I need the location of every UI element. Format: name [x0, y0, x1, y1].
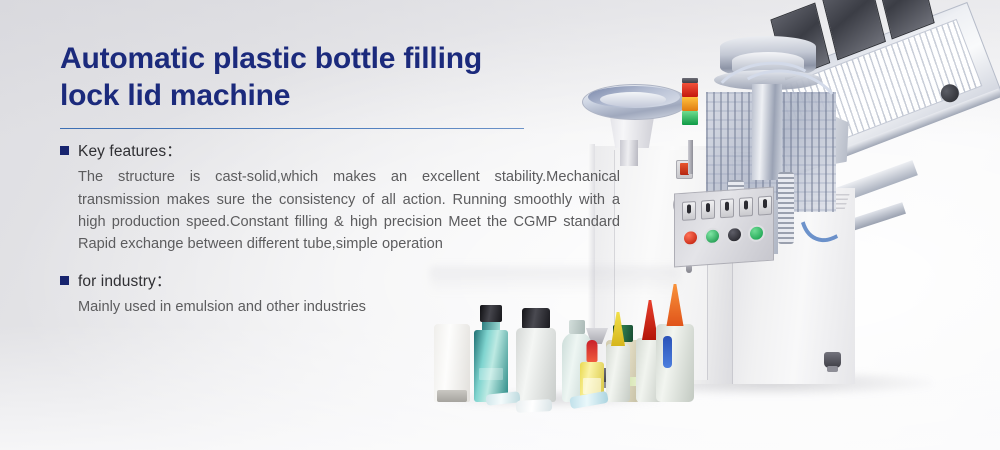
selector-switch-row — [682, 196, 772, 221]
flat-sachet-tube — [516, 399, 553, 413]
stack-light-tower — [682, 78, 698, 142]
run-push-button[interactable] — [748, 224, 765, 242]
dropper-cap — [587, 340, 598, 362]
section-body-key-features: The structure is cast-solid,which makes … — [78, 166, 620, 255]
feature-section-key-features: Key features： The structure is cast-soli… — [60, 142, 620, 255]
selector-switch[interactable] — [701, 200, 715, 220]
start-push-button[interactable] — [704, 227, 721, 245]
stop-push-button[interactable] — [682, 229, 699, 247]
spring-guard — [778, 172, 794, 244]
text-column: Automatic plastic bottle filling lock li… — [60, 40, 620, 318]
caster-wheel — [824, 352, 841, 368]
section-body-for-industry: Mainly used in emulsion and other indust… — [78, 296, 620, 318]
section-label-key-features: Key features： — [78, 142, 182, 163]
teal-bottle-black-cap — [474, 304, 508, 402]
bottle-cap — [569, 320, 585, 334]
bullet-row: Key features： — [60, 142, 620, 163]
selector-switch[interactable] — [682, 201, 696, 221]
orange-cone-cap-bottle — [656, 286, 694, 402]
mode-push-button[interactable] — [726, 226, 743, 244]
stack-light-pole — [688, 140, 693, 174]
stack-light-amber — [682, 97, 698, 111]
product-banner: Automatic plastic bottle filling lock li… — [0, 0, 1000, 450]
selector-switch[interactable] — [739, 197, 753, 217]
page-title: Automatic plastic bottle filling lock li… — [60, 40, 620, 114]
selector-switch[interactable] — [720, 198, 734, 218]
bullet-row: for industry： — [60, 272, 620, 293]
square-bullet-icon — [60, 146, 69, 155]
yellow-cone-cap-bottle — [606, 310, 630, 402]
feature-section-for-industry: for industry： Mainly used in emulsion an… — [60, 272, 620, 318]
stack-light-red — [682, 83, 698, 97]
selector-switch[interactable] — [758, 196, 772, 216]
bowl-feeder-column — [620, 140, 638, 166]
stack-light-green — [682, 111, 698, 125]
section-label-for-industry: for industry： — [78, 272, 171, 293]
tube-cap — [437, 390, 467, 402]
white-cosmetic-tube — [434, 314, 470, 402]
control-panel[interactable] — [674, 187, 774, 268]
bottle-label — [479, 368, 503, 380]
push-button-row — [682, 224, 765, 247]
square-bullet-icon — [60, 276, 69, 285]
bottle-stripe — [663, 336, 672, 368]
title-divider — [60, 128, 524, 129]
cone-cap — [667, 284, 684, 326]
